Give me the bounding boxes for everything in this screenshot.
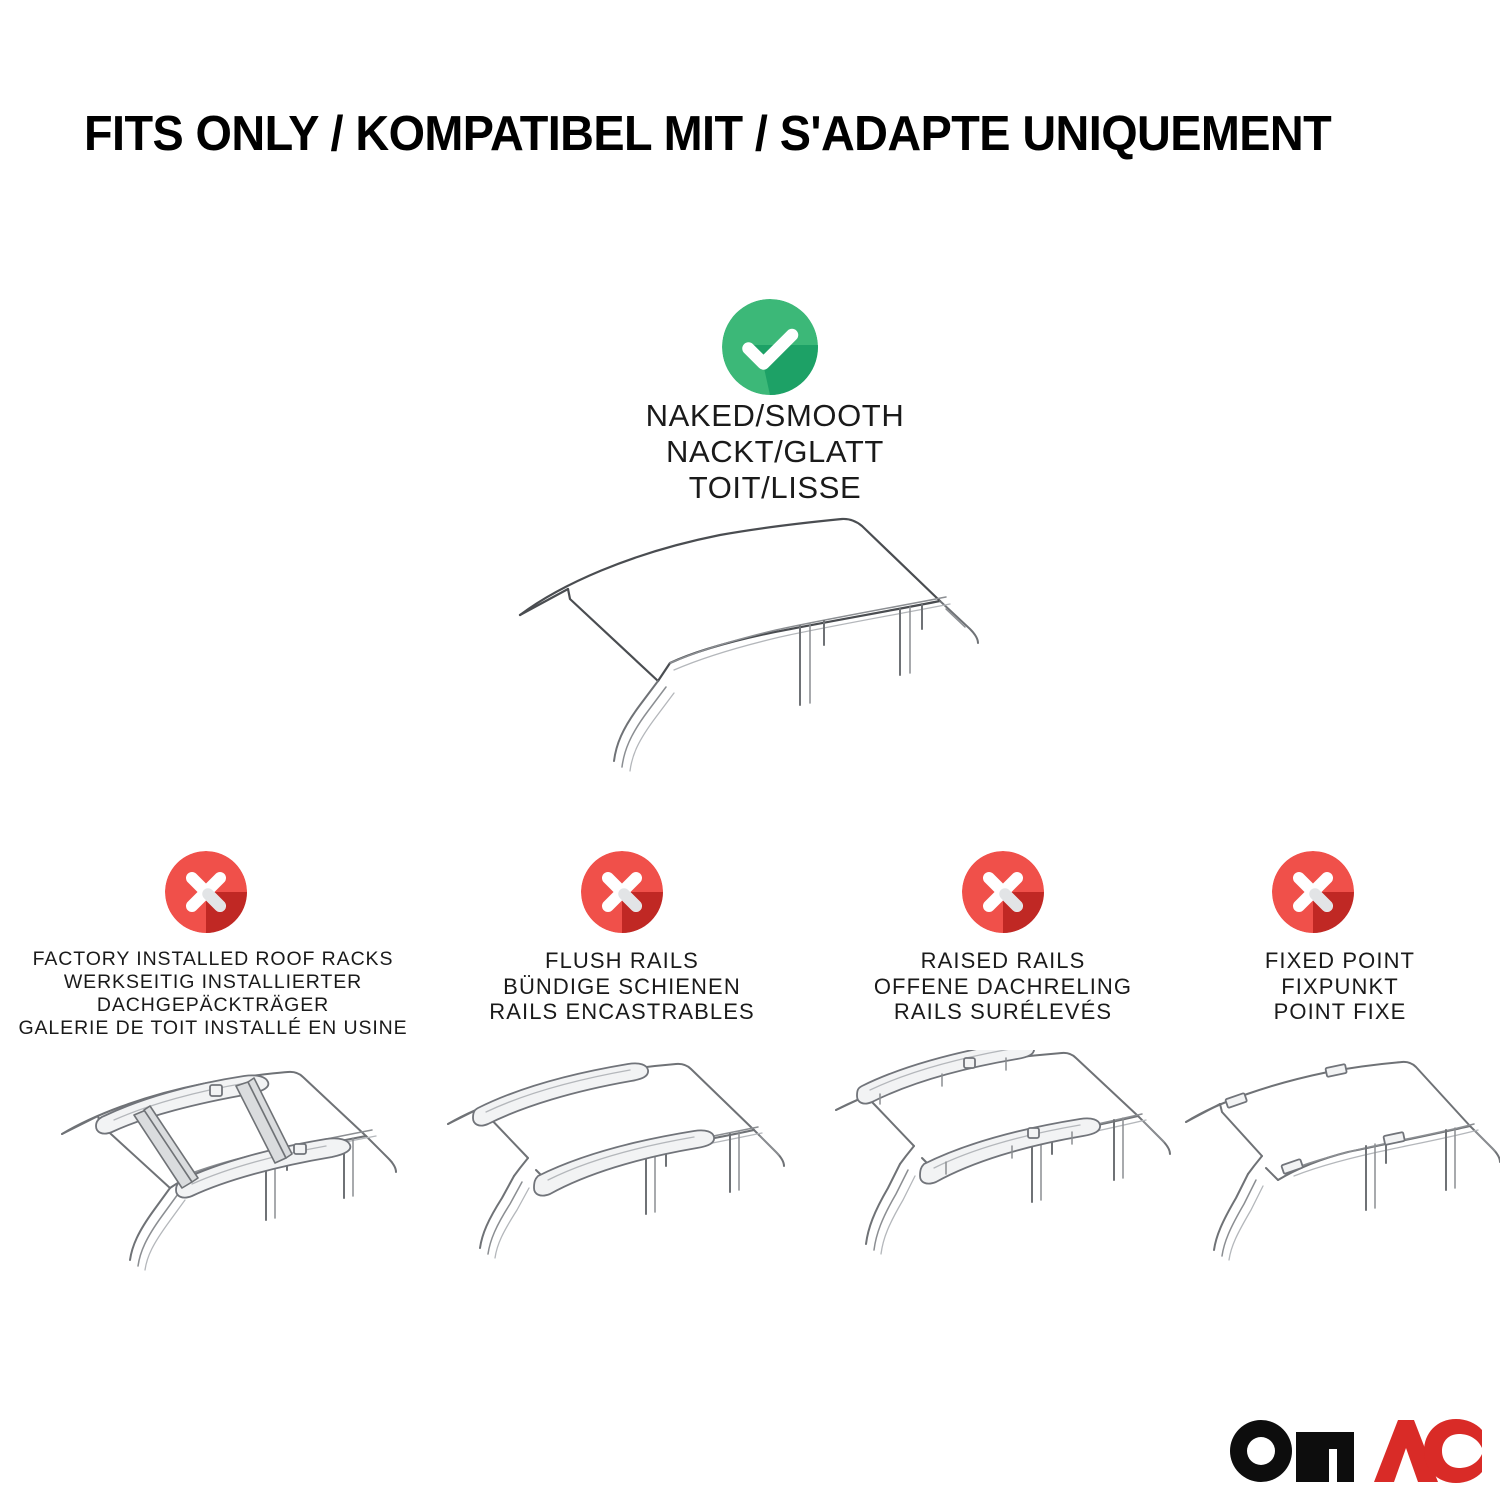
incompatible-caption-3: RAISED RAILS OFFENE DACHRELING RAILS SUR…	[818, 948, 1188, 1025]
smooth-roof-illustration	[470, 505, 1030, 805]
caption-line-2: WERKSEITIG INSTALLIERTER	[8, 971, 418, 994]
caption-line-3: RAILS SURÉLEVÉS	[818, 999, 1188, 1025]
compatible-caption: NAKED/SMOOTH NACKT/GLATT TOIT/LISSE	[555, 398, 995, 506]
caption-line-2: NACKT/GLATT	[555, 434, 995, 470]
x-circle-icon	[165, 851, 247, 933]
incompatible-caption-2: FLUSH RAILS BÜNDIGE SCHIENEN RAILS ENCAS…	[432, 948, 812, 1025]
caption-line-2: OFFENE DACHRELING	[818, 974, 1188, 1000]
caption-line-3: DACHGEPÄCKTRÄGER	[8, 994, 418, 1017]
page-title: FITS ONLY / KOMPATIBEL MIT / S'ADAPTE UN…	[84, 108, 1364, 160]
caption-line-1: FLUSH RAILS	[432, 948, 812, 974]
incompatible-caption-1: FACTORY INSTALLED ROOF RACKS WERKSEITIG …	[8, 948, 418, 1040]
caption-line-1: FACTORY INSTALLED ROOF RACKS	[8, 948, 418, 971]
x-circle-icon	[962, 851, 1044, 933]
caption-line-3: TOIT/LISSE	[555, 470, 995, 506]
caption-line-3: POINT FIXE	[1190, 999, 1490, 1025]
x-circle-icon	[581, 851, 663, 933]
caption-line-2: BÜNDIGE SCHIENEN	[432, 974, 812, 1000]
check-circle-icon	[722, 299, 818, 395]
omac-logo	[1228, 1418, 1482, 1484]
caption-line-1: NAKED/SMOOTH	[555, 398, 995, 434]
caption-line-3: RAILS ENCASTRABLES	[432, 999, 812, 1025]
factory-roof-rack-illustration	[22, 1058, 442, 1308]
caption-line-2: FIXPUNKT	[1190, 974, 1490, 1000]
fixed-point-illustration	[1170, 1058, 1500, 1308]
caption-line-1: FIXED POINT	[1190, 948, 1490, 974]
caption-line-1: RAISED RAILS	[818, 948, 1188, 974]
incompatible-caption-4: FIXED POINT FIXPUNKT POINT FIXE	[1190, 948, 1490, 1025]
fitment-infographic: FITS ONLY / KOMPATIBEL MIT / S'ADAPTE UN…	[0, 0, 1500, 1500]
flush-rails-illustration	[432, 1058, 852, 1308]
caption-line-4: GALERIE DE TOIT INSTALLÉ EN USINE	[8, 1017, 418, 1040]
x-circle-icon	[1272, 851, 1354, 933]
